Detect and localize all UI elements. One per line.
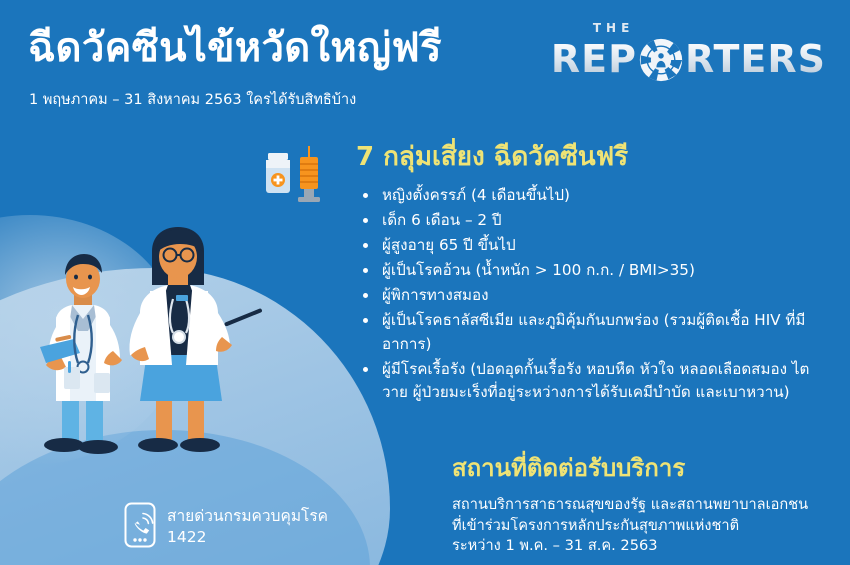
- list-item-label: ผู้มีโรคเรื้อรัง (ปอดอุดกั้นเรื้อรัง หอบ…: [382, 360, 809, 401]
- hotline-block: สายด่วนกรมควบคุมโรค 1422: [124, 502, 328, 552]
- list-item: หญิงตั้งครรภ์ (4 เดือนขึ้นไป): [356, 184, 830, 207]
- bullet-icon: [363, 193, 368, 198]
- logo-word-left: REP: [551, 40, 637, 78]
- list-item: ผู้เป็นโรคธาลัสซีเมีย และภูมิคุ้มกันบกพร…: [356, 309, 830, 355]
- risk-groups-list: หญิงตั้งครรภ์ (4 เดือนขึ้นไป) เด็ก 6 เดื…: [356, 184, 830, 404]
- list-item-label: ผู้เป็นโรคธาลัสซีเมีย และภูมิคุ้มกันบกพร…: [382, 311, 805, 352]
- service-location-line: สถานบริการสาธารณสุขของรัฐ และสถานพยาบาลเ…: [452, 495, 844, 516]
- list-item: ผู้มีโรคเรื้อรัง (ปอดอุดกั้นเรื้อรัง หอบ…: [356, 358, 830, 404]
- list-item-label: ผู้พิการทางสมอง: [382, 286, 489, 304]
- service-location-line: ที่เข้าร่วมโครงการหลักประกันสุขภาพแห่งชา…: [452, 516, 844, 537]
- list-item: ผู้เป็นโรคอ้วน (น้ำหนัก > 100 ก.ก. / BMI…: [356, 259, 830, 282]
- list-item-label: หญิงตั้งครรภ์ (4 เดือนขึ้นไป): [382, 186, 570, 204]
- two-doctors-illustration: [28, 195, 278, 469]
- page-title: ฉีดวัคซีนไข้หวัดใหญ่ฟรี: [28, 26, 442, 71]
- list-item: ผู้พิการทางสมอง: [356, 284, 830, 307]
- list-item-label: เด็ก 6 เดือน – 2 ปี: [382, 211, 502, 229]
- bullet-icon: [363, 367, 368, 372]
- hotline-number: 1422: [167, 527, 328, 548]
- female-doctor: [129, 227, 262, 452]
- bullet-icon: [363, 218, 368, 223]
- service-location-line: ระหว่าง 1 พ.ค. – 31 ส.ค. 2563: [452, 536, 844, 557]
- list-item: ผู้สูงอายุ 65 ปี ขึ้นไป: [356, 234, 830, 257]
- male-doctor: [40, 254, 122, 454]
- mobile-phone-call-icon: [124, 502, 156, 552]
- list-item-label: ผู้เป็นโรคอ้วน (น้ำหนัก > 100 ก.ก. / BMI…: [382, 261, 695, 279]
- list-item: เด็ก 6 เดือน – 2 ปี: [356, 209, 830, 232]
- logo-the-text: THE: [593, 22, 634, 34]
- risk-groups-heading: 7 กลุ่มเสี่ยง ฉีดวัคซีนฟรี: [356, 136, 830, 177]
- bullet-icon: [363, 318, 368, 323]
- brand-logo: THE REP: [551, 22, 826, 82]
- logo-word-right: RTERS: [685, 40, 826, 78]
- risk-groups-section: 7 กลุ่มเสี่ยง ฉีดวัคซีนฟรี หญิงตั้งครรภ์…: [356, 136, 830, 406]
- bullet-icon: [363, 268, 368, 273]
- bullet-icon: [363, 293, 368, 298]
- camera-aperture-icon: [638, 37, 684, 83]
- infographic-poster: ฉีดวัคซีนไข้หวัดใหญ่ฟรี 1 พฤษภาคม – 31 ส…: [0, 0, 850, 565]
- page-subtitle: 1 พฤษภาคม – 31 สิงหาคม 2563 ใครได้รับสิท…: [29, 88, 356, 111]
- hotline-label: สายด่วนกรมควบคุมโรค: [167, 506, 328, 527]
- hotline-text: สายด่วนกรมควบคุมโรค 1422: [167, 506, 328, 548]
- bullet-icon: [363, 243, 368, 248]
- list-item-label: ผู้สูงอายุ 65 ปี ขึ้นไป: [382, 236, 516, 254]
- logo-wordmark: REP: [551, 36, 826, 82]
- service-location-section: สถานที่ติดต่อรับบริการ สถานบริการสาธารณส…: [452, 448, 844, 557]
- service-location-heading: สถานที่ติดต่อรับบริการ: [452, 448, 844, 487]
